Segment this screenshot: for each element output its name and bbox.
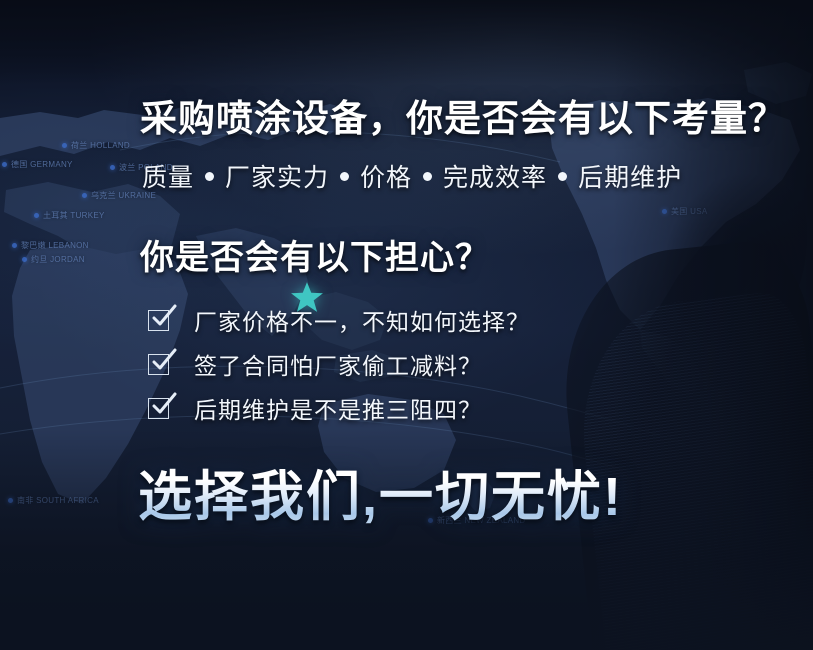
checklist-item: 厂家价格不一，不知如何选择？	[148, 302, 530, 338]
feature-item: 完成效率	[443, 158, 547, 194]
bullet-separator-icon	[205, 172, 214, 181]
feature-item: 厂家实力	[225, 158, 329, 194]
banner-content: 采购喷涂设备，你是否会有以下考量？ 质量厂家实力价格完成效率后期维护 你是否会有…	[0, 0, 813, 650]
bullet-separator-icon	[558, 172, 567, 181]
checklist-item-label: 厂家价格不一，不知如何选择？	[194, 303, 530, 337]
checklist-item-label: 签了合同怕厂家偷工减料？	[194, 347, 482, 381]
checklist-item-label: 后期维护是不是推三阻四？	[194, 391, 482, 425]
bullet-separator-icon	[340, 172, 349, 181]
checklist-item: 签了合同怕厂家偷工减料？	[148, 346, 530, 382]
feature-item: 质量	[142, 158, 194, 194]
slogan-text: 选择我们,一切无忧!	[138, 452, 623, 531]
headline-secondary: 你是否会有以下担心？	[140, 230, 490, 279]
checkbox-icon	[148, 310, 169, 331]
bullet-separator-icon	[423, 172, 432, 181]
checkbox-icon	[148, 398, 169, 419]
promo-banner: 荷兰 HOLLAND德国 GERMANY波兰 POLAND乌克兰 UKRAINE…	[0, 0, 813, 650]
feature-item: 价格	[360, 158, 412, 194]
feature-list: 质量厂家实力价格完成效率后期维护	[142, 158, 682, 194]
concerns-checklist: 厂家价格不一，不知如何选择？签了合同怕厂家偷工减料？后期维护是不是推三阻四？	[148, 302, 530, 434]
checkbox-icon	[148, 354, 169, 375]
feature-item: 后期维护	[578, 158, 682, 194]
checklist-item: 后期维护是不是推三阻四？	[148, 390, 530, 426]
headline-primary: 采购喷涂设备，你是否会有以下考量？	[140, 88, 786, 142]
